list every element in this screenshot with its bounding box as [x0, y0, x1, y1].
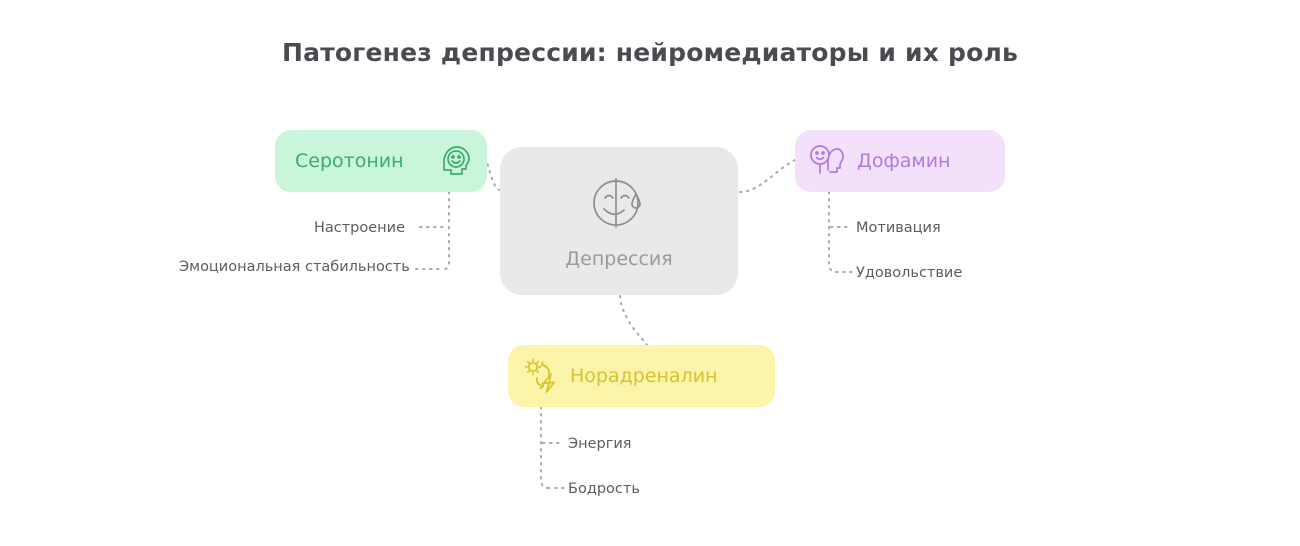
connector-center-serotonin — [487, 162, 500, 190]
node-noradrenaline-label: Норадреналин — [570, 365, 717, 387]
node-serotonin[interactable]: Серотонин — [275, 130, 487, 192]
sub-label-noradrenaline-energy: Энергия — [568, 436, 632, 452]
connector-dopamine-spine — [829, 192, 837, 272]
sub-label-dopamine-motivation: Мотивация — [856, 220, 941, 236]
head-with-smiley-brain-icon — [439, 144, 473, 178]
node-noradrenaline[interactable]: Норадреналин — [508, 345, 775, 407]
node-serotonin-label: Серотонин — [295, 150, 404, 172]
node-depression[interactable]: Депрессия — [500, 147, 738, 295]
connector-noradrenaline-spine — [541, 407, 549, 488]
sub-label-serotonin-stability: Эмоциональная стабильность — [179, 259, 405, 275]
node-dopamine[interactable]: Дофамин — [795, 130, 1005, 192]
split-face-happy-sad-icon — [588, 172, 650, 234]
smiley-head-profile-icon — [809, 144, 845, 178]
sub-label-dopamine-pleasure: Удовольствие — [856, 265, 962, 281]
node-dopamine-label: Дофамин — [857, 150, 950, 172]
sub-label-noradrenaline-vigor: Бодрость — [568, 481, 640, 497]
sun-cycle-lightning-icon — [522, 357, 560, 395]
connector-serotonin-spine — [441, 192, 449, 270]
sub-label-serotonin-mood: Настроение — [313, 220, 405, 236]
connector-center-dopamine — [740, 160, 795, 192]
connector-center-noradrenaline — [620, 296, 648, 346]
node-depression-label: Депрессия — [565, 248, 672, 270]
diagram-canvas: Патогенез депрессии: нейромедиаторы и их… — [0, 0, 1300, 546]
